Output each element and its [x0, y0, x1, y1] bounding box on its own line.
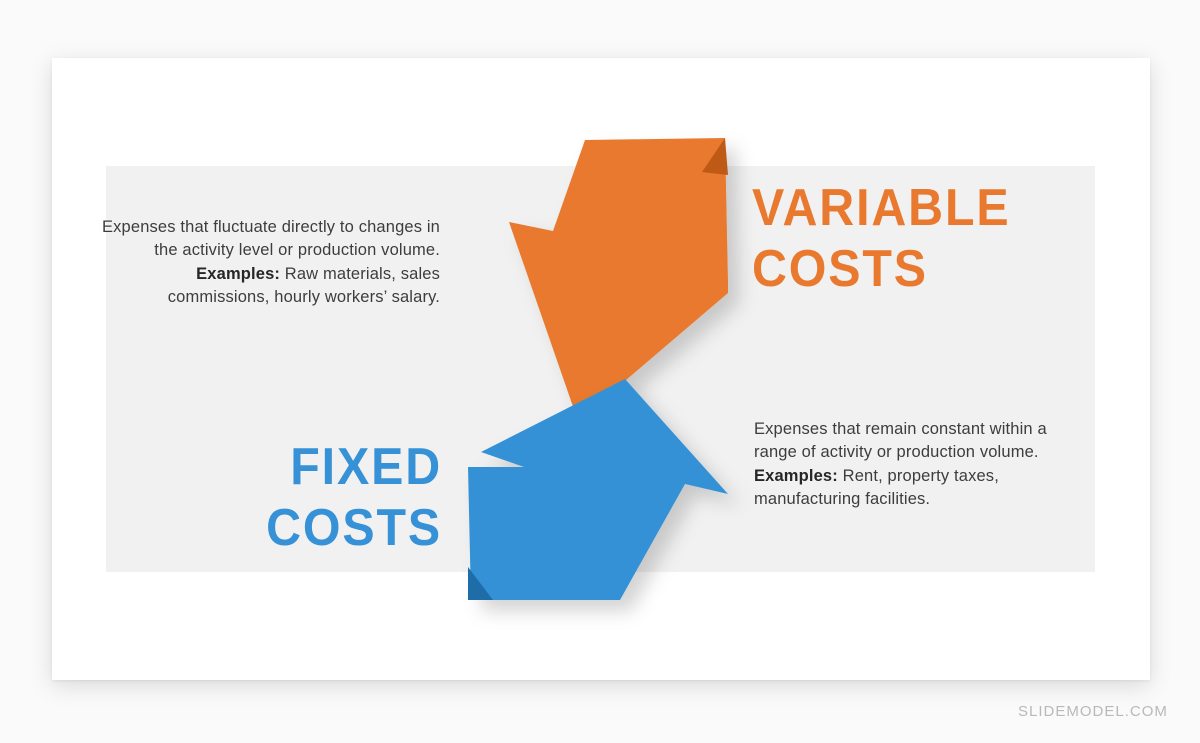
fixed-costs-heading: FIXED COSTS: [210, 437, 443, 560]
variable-costs-heading: VARIABLE COSTS: [752, 178, 1010, 301]
slidemodel-watermark: SLIDEMODEL.COM: [1018, 703, 1168, 720]
fixed-examples-label: Examples:: [754, 467, 838, 485]
fixed-desc-line-3: production volume.: [897, 443, 1039, 461]
variable-examples-label: Examples:: [196, 265, 280, 283]
variable-desc-line-3: production volume.: [298, 241, 440, 259]
slide-canvas: VARIABLE COSTS FIXED COSTS Expenses that…: [52, 58, 1150, 680]
variable-costs-description: Expenses that fluctuate directly to chan…: [92, 216, 440, 310]
variable-desc-line-1: Expenses that fluctuate directly to: [102, 218, 354, 236]
fixed-desc-line-1: Expenses that remain constant: [754, 420, 985, 438]
fixed-costs-description: Expenses that remain constant within a r…: [754, 418, 1054, 512]
